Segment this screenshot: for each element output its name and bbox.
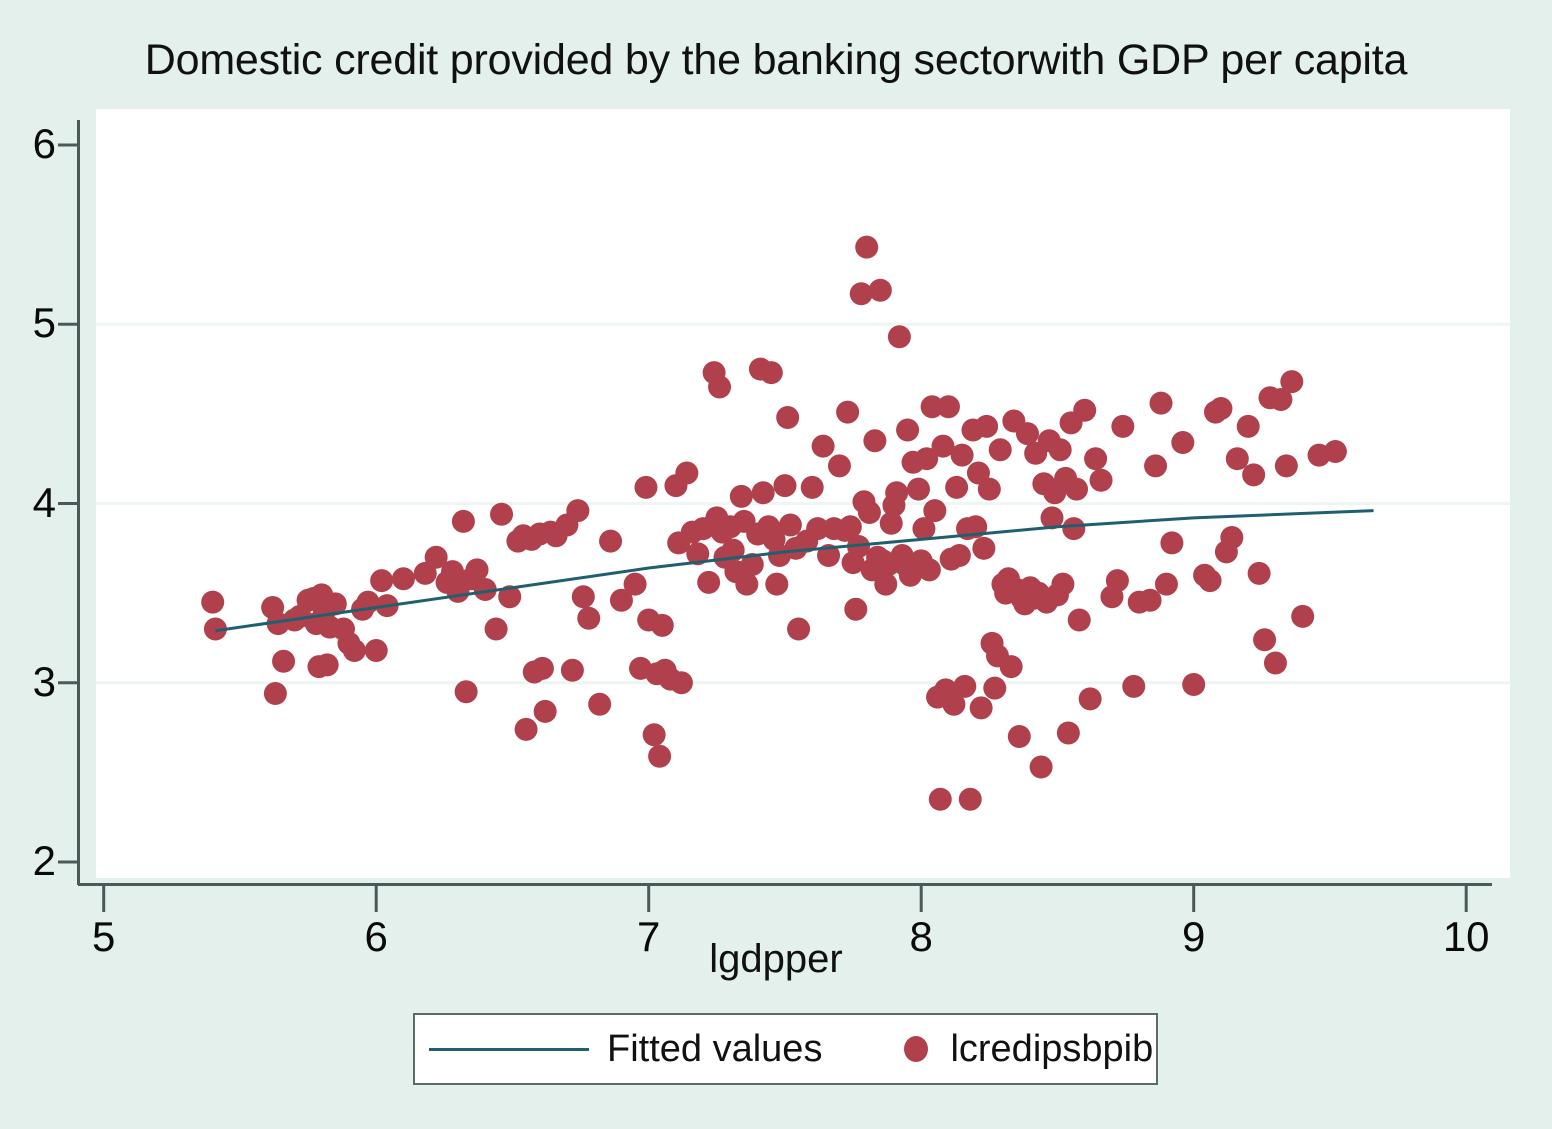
scatter-point: [624, 573, 647, 596]
scatter-point: [1237, 415, 1260, 438]
scatter-point: [1275, 454, 1298, 477]
scatter-point: [1291, 605, 1314, 628]
scatter-point: [959, 788, 982, 811]
scatter-point: [572, 585, 595, 608]
scatter-point: [765, 573, 788, 596]
scatter-point: [850, 282, 873, 305]
scatter-point: [1065, 478, 1088, 501]
scatter-point: [1073, 399, 1096, 422]
x-axis-title: lgdpper: [0, 937, 1552, 982]
scatter-point: [561, 659, 584, 682]
scatter-point: [896, 419, 919, 442]
scatter-point: [836, 401, 859, 424]
scatter-point: [828, 454, 851, 477]
scatter-point: [1150, 392, 1173, 415]
scatter-point: [779, 514, 802, 537]
scatter-point: [670, 671, 693, 694]
y-axis-tick-label: 3: [0, 661, 56, 703]
scatter-point: [365, 639, 388, 662]
scatter-point: [1209, 397, 1232, 420]
scatter-point: [1051, 573, 1074, 596]
scatter-point: [978, 478, 1001, 501]
scatter-point: [272, 650, 295, 673]
scatter-point: [490, 503, 513, 526]
scatter-point: [1182, 673, 1205, 696]
scatter-point: [1049, 438, 1072, 461]
scatter-point: [972, 537, 995, 560]
scatter-point: [923, 499, 946, 522]
scatter-point: [953, 675, 976, 698]
scatter-point: [1253, 628, 1276, 651]
scatter-point: [1068, 609, 1091, 632]
y-axis-tick-label: 5: [0, 302, 56, 344]
scatter-point: [730, 485, 753, 508]
scatter-point: [869, 279, 892, 302]
scatter-point: [1106, 569, 1129, 592]
scatter-point: [577, 607, 600, 630]
scatter-point: [1122, 675, 1145, 698]
scatter-point: [515, 718, 538, 741]
scatter-point: [1090, 469, 1113, 492]
scatter-point: [951, 444, 974, 467]
scatter-point: [1030, 755, 1053, 778]
scatter-point: [531, 657, 554, 680]
scatter-point: [929, 788, 952, 811]
scatter-point: [316, 653, 339, 676]
scatter-point: [1248, 562, 1271, 585]
scatter-point: [1171, 431, 1194, 454]
x-axis-ticks: [104, 885, 1467, 912]
scatter-point: [801, 476, 824, 499]
scatter-point: [343, 639, 366, 662]
scatter-point: [1016, 422, 1039, 445]
scatter-point: [948, 544, 971, 567]
scatter-point: [844, 598, 867, 621]
scatter-point: [863, 429, 886, 452]
y-axis-ticks: [58, 145, 78, 862]
scatter-point: [812, 435, 835, 458]
scatter-point: [588, 693, 611, 716]
scatter-point: [1144, 454, 1167, 477]
y-axis-tick-label: 2: [0, 840, 56, 882]
scatter-point: [452, 510, 475, 533]
scatter-point: [1160, 531, 1183, 554]
scatter-point: [975, 415, 998, 438]
scatter-point: [264, 682, 287, 705]
scatter-point: [1242, 463, 1265, 486]
scatter-point: [1226, 447, 1249, 470]
scatter-point: [648, 745, 671, 768]
scatter-point: [907, 478, 930, 501]
scatter-point: [651, 614, 674, 637]
legend: Fitted values lcredipsbpib: [413, 1013, 1158, 1085]
scatter-point: [1111, 415, 1134, 438]
scatter-point: [566, 499, 589, 522]
scatter-point: [918, 558, 941, 581]
scatter-point: [888, 325, 911, 348]
scatter-point: [874, 573, 897, 596]
scatter-point: [643, 723, 666, 746]
scatter-point: [534, 700, 557, 723]
scatter-point: [599, 530, 622, 553]
chart-canvas: Domestic credit provided by the banking …: [0, 0, 1552, 1129]
scatter-point: [1000, 655, 1023, 678]
scatter-point: [1057, 721, 1080, 744]
scatter-point: [937, 395, 960, 418]
scatter-point: [1008, 725, 1031, 748]
legend-label-fitted-values: Fitted values: [607, 1028, 822, 1071]
scatter-point: [1199, 569, 1222, 592]
scatter-point: [634, 476, 657, 499]
legend-label-lcredipsbpib: lcredipsbpib: [950, 1028, 1153, 1071]
scatter-point: [1139, 589, 1162, 612]
scatter-point: [370, 569, 393, 592]
scatter-point: [201, 591, 224, 614]
y-axis-tick-label: 4: [0, 482, 56, 524]
scatter-point: [1220, 526, 1243, 549]
scatter-point: [970, 696, 993, 719]
scatter-point: [485, 617, 508, 640]
scatter-point: [773, 474, 796, 497]
scatter-point: [697, 571, 720, 594]
scatter-point: [1062, 517, 1085, 540]
scatter-point: [466, 558, 489, 581]
scatter-point: [855, 236, 878, 259]
legend-dot-icon: [904, 1036, 928, 1062]
scatter-point: [1079, 687, 1102, 710]
scatter-point: [760, 361, 783, 384]
scatter-point: [945, 476, 968, 499]
scatter-point: [1264, 652, 1287, 675]
scatter-point: [455, 680, 478, 703]
legend-line-icon: [429, 1048, 589, 1051]
scatter-point: [787, 617, 810, 640]
scatter-point: [776, 406, 799, 429]
scatter-point: [983, 677, 1006, 700]
scatter-point: [675, 462, 698, 485]
y-axis-tick-label: 6: [0, 123, 56, 165]
scatter-point: [1155, 573, 1178, 596]
scatter-point: [858, 501, 881, 524]
scatter-point: [735, 573, 758, 596]
scatter-point: [708, 375, 731, 398]
scatter-point: [1084, 447, 1107, 470]
scatter-point: [392, 567, 415, 590]
scatter-point: [1280, 370, 1303, 393]
scatter-point: [1324, 440, 1347, 463]
scatter-point: [885, 481, 908, 504]
scatter-point: [989, 438, 1012, 461]
scatter-point: [839, 515, 862, 538]
scatter-point: [752, 481, 775, 504]
